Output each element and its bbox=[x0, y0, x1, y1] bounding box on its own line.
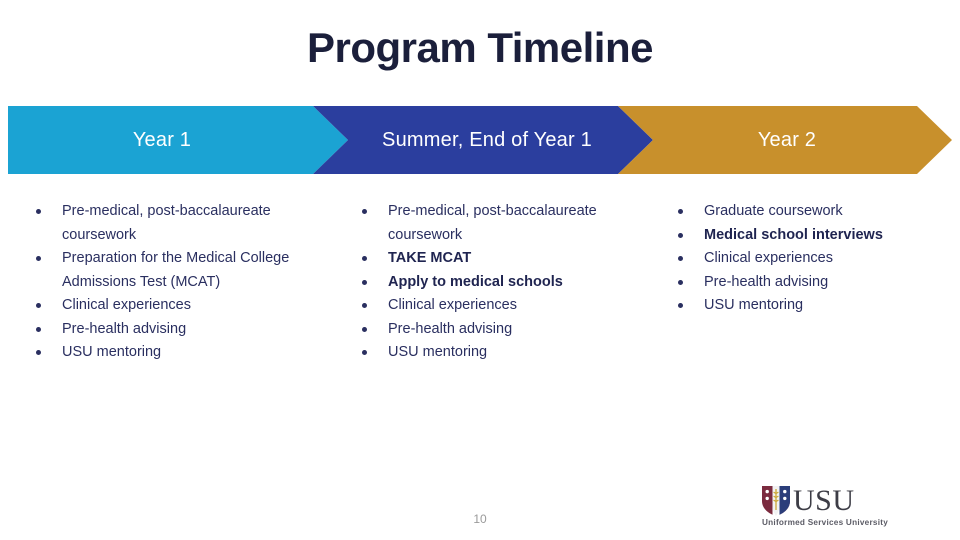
list-item-label: Pre-medical, post-baccalaureate coursewo… bbox=[62, 203, 271, 243]
timeline-segment-label: Summer, End of Year 1 bbox=[382, 129, 592, 152]
list-item-label: Graduate coursework bbox=[704, 203, 843, 219]
list-item: Graduate coursework bbox=[670, 200, 940, 224]
bullet-column-year-2: Graduate coursework Medical school inter… bbox=[670, 200, 940, 318]
list-item-label: Clinical experiences bbox=[704, 250, 833, 266]
list-item-label: Apply to medical schools bbox=[388, 274, 563, 290]
bullet-dot-icon bbox=[36, 327, 41, 332]
list-item-label: USU mentoring bbox=[704, 297, 803, 313]
list-item: Clinical experiences bbox=[354, 294, 654, 318]
logo-wordmark: USU bbox=[793, 486, 855, 516]
timeline-segment-label: Year 1 bbox=[133, 129, 191, 152]
bullet-dot-icon bbox=[362, 256, 367, 261]
list-item: TAKE MCAT bbox=[354, 247, 654, 271]
list-item-label: TAKE MCAT bbox=[388, 250, 471, 266]
bullet-dot-icon bbox=[36, 303, 41, 308]
bullet-dot-icon bbox=[362, 209, 367, 214]
timeline-segment-year-2[interactable]: Year 2 bbox=[618, 106, 952, 174]
bullet-column-summer-end-of-year-1: Pre-medical, post-baccalaureate coursewo… bbox=[354, 200, 654, 365]
list-item-label: Preparation for the Medical College Admi… bbox=[62, 250, 289, 290]
list-item-label: Pre-medical, post-baccalaureate coursewo… bbox=[388, 203, 597, 243]
list-item: Clinical experiences bbox=[28, 294, 328, 318]
bullet-dot-icon bbox=[362, 350, 367, 355]
bullet-list: Pre-medical, post-baccalaureate coursewo… bbox=[28, 200, 328, 365]
list-item: USU mentoring bbox=[354, 341, 654, 365]
bullet-dot-icon bbox=[362, 327, 367, 332]
timeline-chevron-band: Year 1 Summer, End of Year 1 Year 2 bbox=[8, 106, 952, 174]
list-item: Pre-medical, post-baccalaureate coursewo… bbox=[354, 200, 654, 247]
logo-row: USU bbox=[762, 486, 892, 516]
bullet-columns: Pre-medical, post-baccalaureate coursewo… bbox=[0, 200, 960, 430]
bullet-list: Pre-medical, post-baccalaureate coursewo… bbox=[354, 200, 654, 365]
bullet-dot-icon bbox=[678, 303, 683, 308]
bullet-dot-icon bbox=[362, 303, 367, 308]
list-item-label: Medical school interviews bbox=[704, 227, 883, 243]
shield-icon bbox=[762, 486, 790, 516]
list-item: Pre-health advising bbox=[28, 318, 328, 342]
timeline-segment-year-1[interactable]: Year 1 bbox=[8, 106, 348, 174]
list-item-label: Clinical experiences bbox=[388, 297, 517, 313]
slide-canvas: Program Timeline Year 1 Summer, End of Y… bbox=[0, 0, 960, 540]
list-item: Pre-medical, post-baccalaureate coursewo… bbox=[28, 200, 328, 247]
logo-tagline: Uniformed Services University bbox=[762, 518, 892, 527]
list-item-label: Clinical experiences bbox=[62, 297, 191, 313]
list-item-label: USU mentoring bbox=[388, 344, 487, 360]
bullet-dot-icon bbox=[362, 280, 367, 285]
bullet-dot-icon bbox=[36, 209, 41, 214]
list-item-label: Pre-health advising bbox=[62, 321, 186, 337]
list-item-label: Pre-health advising bbox=[704, 274, 828, 290]
bullet-list: Graduate coursework Medical school inter… bbox=[670, 200, 940, 318]
list-item: Pre-health advising bbox=[354, 318, 654, 342]
list-item: Preparation for the Medical College Admi… bbox=[28, 247, 328, 294]
list-item: Apply to medical schools bbox=[354, 271, 654, 295]
bullet-dot-icon bbox=[36, 350, 41, 355]
timeline-segment-label: Year 2 bbox=[758, 129, 816, 152]
list-item-label: Pre-health advising bbox=[388, 321, 512, 337]
list-item: USU mentoring bbox=[670, 294, 940, 318]
bullet-dot-icon bbox=[678, 256, 683, 261]
bullet-column-year-1: Pre-medical, post-baccalaureate coursewo… bbox=[28, 200, 328, 365]
bullet-dot-icon bbox=[678, 280, 683, 285]
bullet-dot-icon bbox=[678, 209, 683, 214]
list-item-label: USU mentoring bbox=[62, 344, 161, 360]
usu-logo: USU Uniformed Services University bbox=[762, 486, 892, 530]
bullet-dot-icon bbox=[36, 256, 41, 261]
page-title: Program Timeline bbox=[0, 24, 960, 72]
list-item: USU mentoring bbox=[28, 341, 328, 365]
bullet-dot-icon bbox=[678, 233, 683, 238]
list-item: Clinical experiences bbox=[670, 247, 940, 271]
list-item: Medical school interviews bbox=[670, 224, 940, 248]
list-item: Pre-health advising bbox=[670, 271, 940, 295]
timeline-segment-summer-end-of-year-1[interactable]: Summer, End of Year 1 bbox=[313, 106, 653, 174]
